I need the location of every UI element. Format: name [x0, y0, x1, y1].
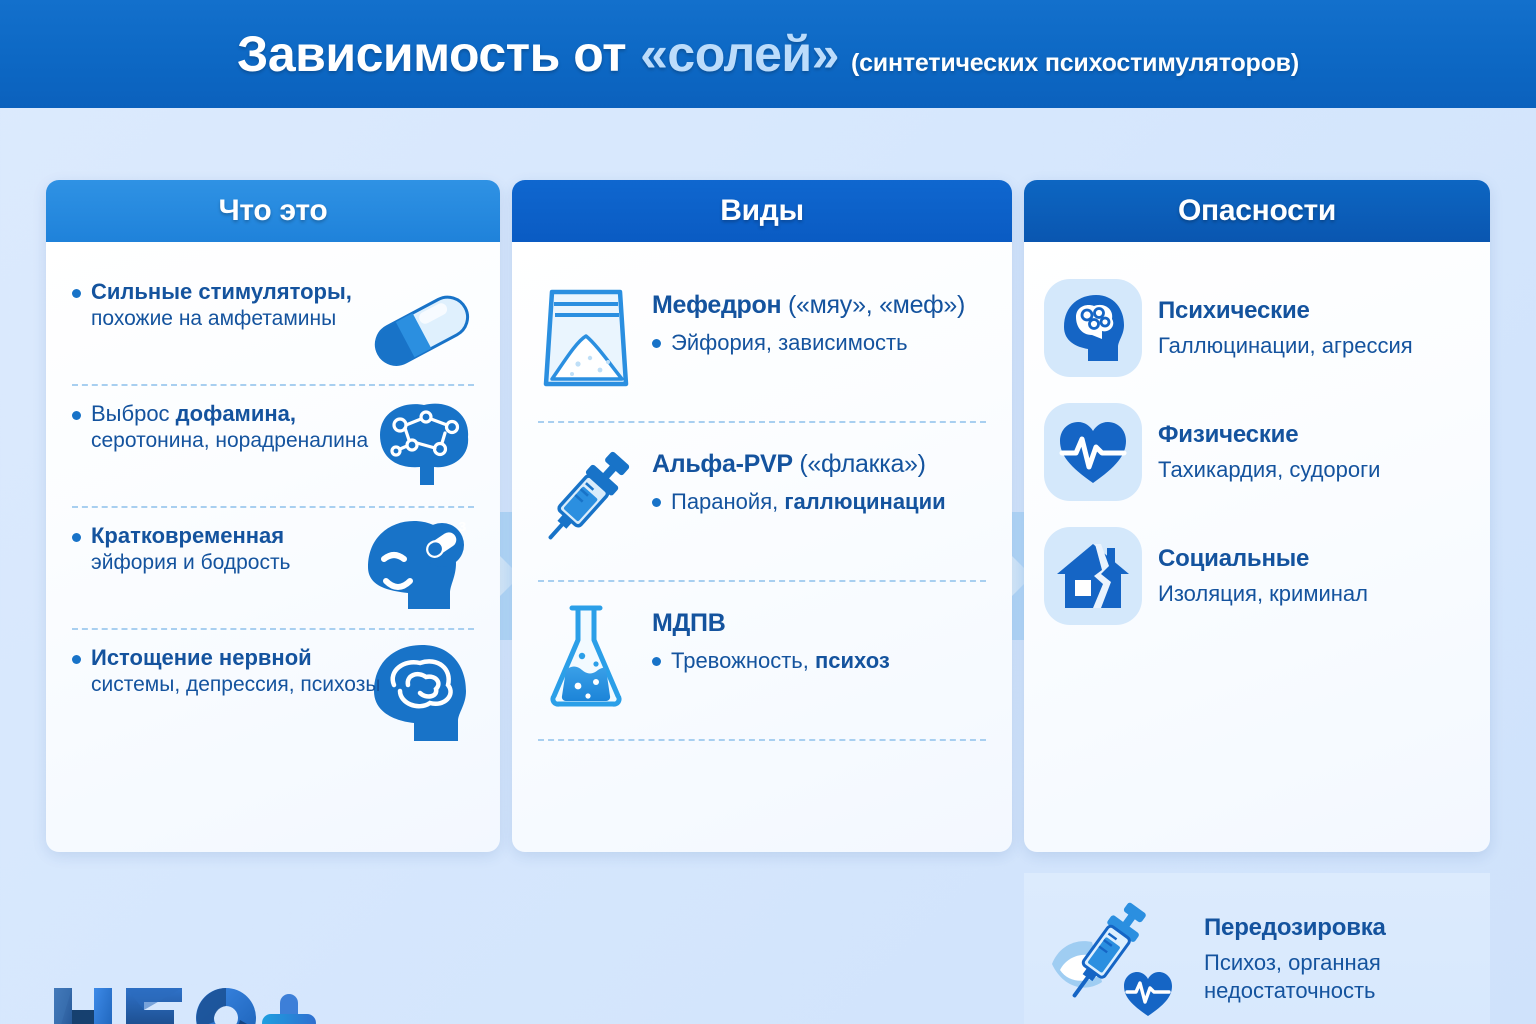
card-header-what-it-is: Что это: [46, 180, 500, 242]
card-types: Виды: [512, 180, 1012, 852]
list-item-line1: Сильные стимуляторы,: [91, 278, 352, 306]
card-header-types: Виды: [512, 180, 1012, 242]
danger-title: Социальные: [1158, 545, 1368, 573]
list-item-line2: серотонина, норадреналина: [91, 428, 402, 455]
danger-title: Психические: [1158, 297, 1413, 325]
list-item-text: Истощение нервной системы, депрессия, пс…: [72, 644, 402, 699]
bullet-dot-icon: [652, 657, 661, 666]
danger-desc: Изоляция, криминал: [1158, 580, 1368, 608]
list-item-line1: Истощение нервной: [91, 644, 312, 672]
overdose-desc-line1: Психоз, органная: [1204, 949, 1386, 977]
svg-text:з: з: [458, 516, 466, 535]
bullet-dot-icon: [652, 339, 661, 348]
list-item-text: Кратковременная эйфория и бодрость: [72, 522, 402, 577]
list-item: Выброс дофамина, серотонина, норадренали…: [72, 386, 474, 508]
bullet-dot-icon: [72, 411, 81, 420]
danger-title: Физические: [1158, 421, 1380, 449]
powder-bag-icon: [538, 280, 634, 399]
card-header-label: Что это: [219, 194, 328, 228]
page-title-subtitle: (синтетических психостимуляторов): [851, 49, 1299, 78]
bullet-dot-icon: [72, 289, 81, 298]
list-item-text: Социальные Изоляция, криминал: [1158, 545, 1368, 608]
list-item-line1: Выброс дофамина,: [91, 400, 296, 428]
page-title: Зависимость от «солей» (синтетических пс…: [237, 25, 1299, 83]
list-item-text: Физические Тахикардия, судороги: [1158, 421, 1380, 484]
type-effect: Тревожность, психоз: [652, 647, 890, 675]
list-item: Мефедрон («мяу», «меф») Эйфория, зависим…: [538, 264, 986, 423]
overdose-title: Передозировка: [1204, 914, 1386, 942]
overdose-panel: Передозировка Психоз, органная недостато…: [1024, 873, 1490, 1024]
list-item: МДПВ Тревожность, психоз: [538, 582, 986, 741]
card-body-dangers: Психические Галлюцинации, агрессия Физич…: [1024, 242, 1490, 852]
type-effect-text: Тревожность, психоз: [671, 647, 890, 675]
bullet-dot-icon: [72, 533, 81, 542]
list-item-line2: системы, депрессия, психозы: [91, 672, 402, 699]
list-item: Альфа-PVP («флакка») Паранойя, галлюцина…: [538, 423, 986, 582]
list-item-line1: Кратковременная: [91, 522, 284, 550]
overdose-desc-line2: недостаточность: [1204, 977, 1386, 1005]
danger-desc: Тахикардия, судороги: [1158, 456, 1380, 484]
card-header-label: Опасности: [1178, 194, 1336, 228]
list-item: Психические Галлюцинации, агрессия: [1042, 266, 1470, 390]
page-title-main: Зависимость от: [237, 25, 626, 83]
bullet-dot-icon: [652, 498, 661, 507]
danger-desc: Галлюцинации, агрессия: [1158, 332, 1413, 360]
list-item: Истощение нервной системы, депрессия, пс…: [72, 630, 474, 752]
card-header-label: Виды: [720, 194, 804, 228]
type-effect: Паранойя, галлюцинации: [652, 488, 946, 516]
list-item: Сильные стимуляторы, похожие на амфетами…: [72, 264, 474, 386]
neo-plus-logo: [48, 976, 328, 1024]
list-item: Кратковременная эйфория и бодрость: [72, 508, 474, 630]
page-title-quoted: «солей»: [640, 25, 839, 83]
card-what-it-is: Что это Сильные стимуляторы, похожие на …: [46, 180, 500, 852]
infographic-board: Что это Сильные стимуляторы, похожие на …: [0, 108, 1536, 1024]
type-name: Альфа-PVP («флакка»): [652, 449, 946, 479]
heart-pulse-icon: [1044, 403, 1142, 501]
list-item-text: Психические Галлюцинации, агрессия: [1158, 297, 1413, 360]
card-body-types: Мефедрон («мяу», «меф») Эйфория, зависим…: [512, 242, 1012, 852]
type-effect-text: Паранойя, галлюцинации: [671, 488, 946, 516]
type-effect: Эйфория, зависимость: [652, 329, 965, 357]
list-item-text: МДПВ Тревожность, психоз: [652, 598, 890, 675]
broken-house-icon: [1044, 527, 1142, 625]
card-dangers: Опасности Психические Га: [1024, 180, 1490, 852]
page-header-bar: Зависимость от «солей» (синтетических пс…: [0, 0, 1536, 108]
list-item-text: Сильные стимуляторы, похожие на амфетами…: [72, 278, 402, 333]
list-item: Физические Тахикардия, судороги: [1042, 390, 1470, 514]
list-item-text: Мефедрон («мяу», «меф») Эйфория, зависим…: [652, 280, 965, 357]
head-brain-icon: [1044, 279, 1142, 377]
list-item-text: Выброс дофамина, серотонина, норадренали…: [72, 400, 402, 455]
overdose-text: Передозировка Психоз, органная недостато…: [1204, 914, 1386, 1004]
type-name: Мефедрон («мяу», «меф»): [652, 290, 965, 320]
bullet-dot-icon: [72, 655, 81, 664]
type-effect-text: Эйфория, зависимость: [671, 329, 908, 357]
list-item-text: Альфа-PVP («флакка») Паранойя, галлюцина…: [652, 439, 946, 516]
syringe-heart-icon: [1040, 894, 1190, 1024]
list-item: Социальные Изоляция, криминал: [1042, 514, 1470, 638]
list-item-line2: похожие на амфетамины: [91, 306, 402, 333]
syringe-icon: [538, 439, 634, 558]
card-header-dangers: Опасности: [1024, 180, 1490, 242]
flask-icon: [538, 598, 634, 717]
list-item-line2: эйфория и бодрость: [91, 550, 402, 577]
card-body-what-it-is: Сильные стимуляторы, похожие на амфетами…: [46, 242, 500, 852]
type-name: МДПВ: [652, 608, 890, 638]
